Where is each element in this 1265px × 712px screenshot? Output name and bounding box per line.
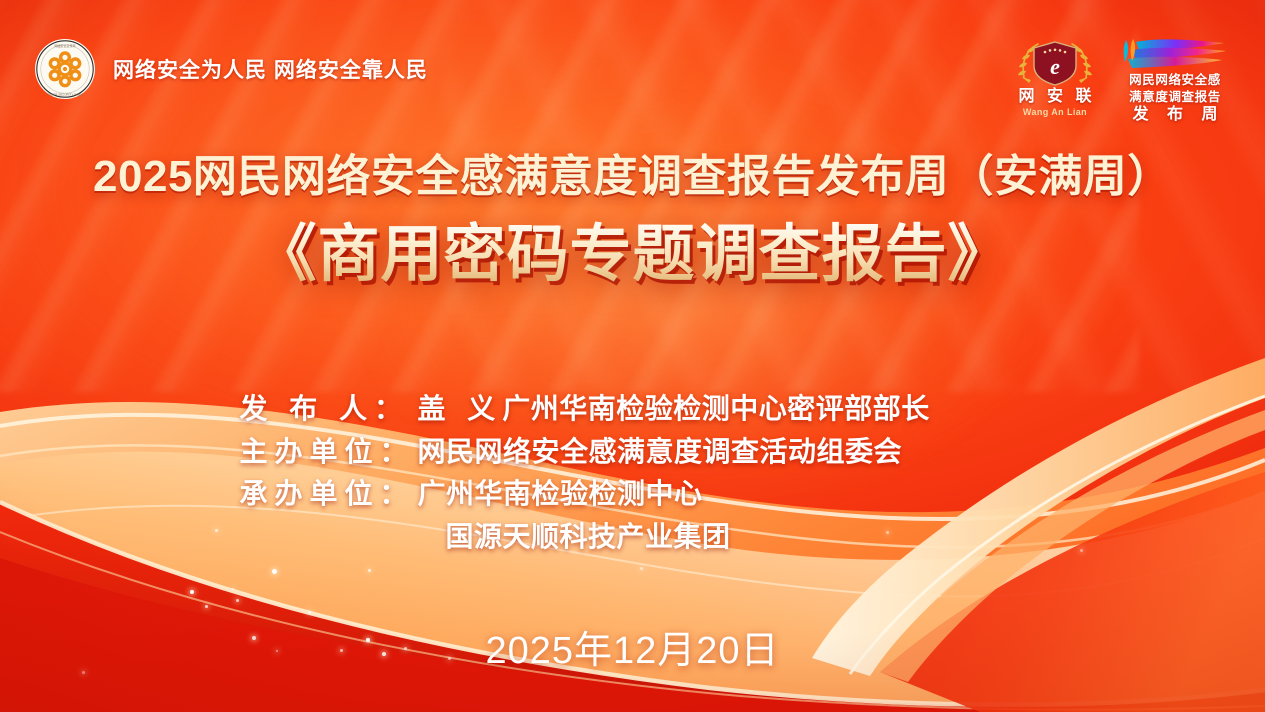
info-label-organizer: 主办单位：: [238, 431, 418, 474]
info-value-organizer: 网民网络安全感满意度调查活动组委会: [418, 431, 903, 474]
presentation-backdrop: 网络安全宣传周 CYBER SECURITY WEEK 网络安全为人民 网络安全…: [0, 0, 1265, 712]
info-block: 发 布 人： 盖 义广州华南检验检测中心密评部部长 主办单位： 网民网络安全感满…: [0, 388, 1265, 558]
logo-release-week: 网民网络安全感 满意度调查报告 发 布 周: [1119, 38, 1231, 126]
speaker-name: 盖 义: [418, 393, 503, 424]
event-date: 2025年12月20日: [0, 619, 1265, 674]
header-right-group: e 网 安 联 Wang An Lian: [1007, 38, 1239, 126]
info-row-host-second: 国源天顺科技产业集团: [238, 516, 1028, 559]
release-week-line2: 满意度调查报告: [1129, 89, 1221, 106]
info-label-host: 承办单位：: [238, 473, 418, 516]
info-value-host: 广州华南检验检测中心: [418, 473, 703, 516]
logo-wang-an-lian: e 网 安 联 Wang An Lian: [1007, 38, 1103, 118]
info-row-organizer: 主办单位： 网民网络安全感满意度调查活动组委会: [238, 431, 1028, 474]
speaker-title: 广州华南检验检测中心密评部部长: [502, 393, 930, 424]
info-row-host: 承办单位： 广州华南检验检测中心: [238, 473, 1028, 516]
info-value-speaker: 盖 义广州华南检验检测中心密评部部长: [418, 388, 930, 431]
info-row-speaker: 发 布 人： 盖 义广州华南检验检测中心密评部部长: [238, 388, 1028, 431]
svg-text:网络安全宣传周: 网络安全宣传周: [54, 43, 75, 48]
release-week-line3: 发 布 周: [1126, 105, 1225, 126]
release-week-line1: 网民网络安全感: [1129, 72, 1221, 89]
info-label-speaker: 发 布 人：: [238, 388, 418, 431]
header-bar: 网络安全宣传周 CYBER SECURITY WEEK 网络安全为人民 网络安全…: [0, 0, 1265, 120]
info-value-host-second: 国源天顺科技产业集团: [418, 516, 731, 559]
svg-text:e: e: [1050, 54, 1060, 79]
wang-an-lian-name-cn: 网 安 联: [1015, 89, 1096, 106]
wang-an-lian-name-en: Wang An Lian: [1023, 107, 1087, 118]
event-title: 2025网民网络安全感满意度调查报告发布周（安满周）: [0, 152, 1265, 201]
svg-text:CYBER SECURITY WEEK: CYBER SECURITY WEEK: [47, 92, 83, 96]
header-left-group: 网络安全宣传周 CYBER SECURITY WEEK 网络安全为人民 网络安全…: [34, 38, 428, 100]
rainbow-swoosh-icon: [1120, 38, 1230, 72]
report-title: 《商用密码专题调查报告》: [0, 218, 1265, 292]
cybersecurity-week-seal-icon: 网络安全宣传周 CYBER SECURITY WEEK: [34, 38, 96, 100]
header-slogan: 网络安全为人民 网络安全靠人民: [113, 58, 428, 81]
shield-laurel-e-icon: e: [1008, 38, 1102, 88]
